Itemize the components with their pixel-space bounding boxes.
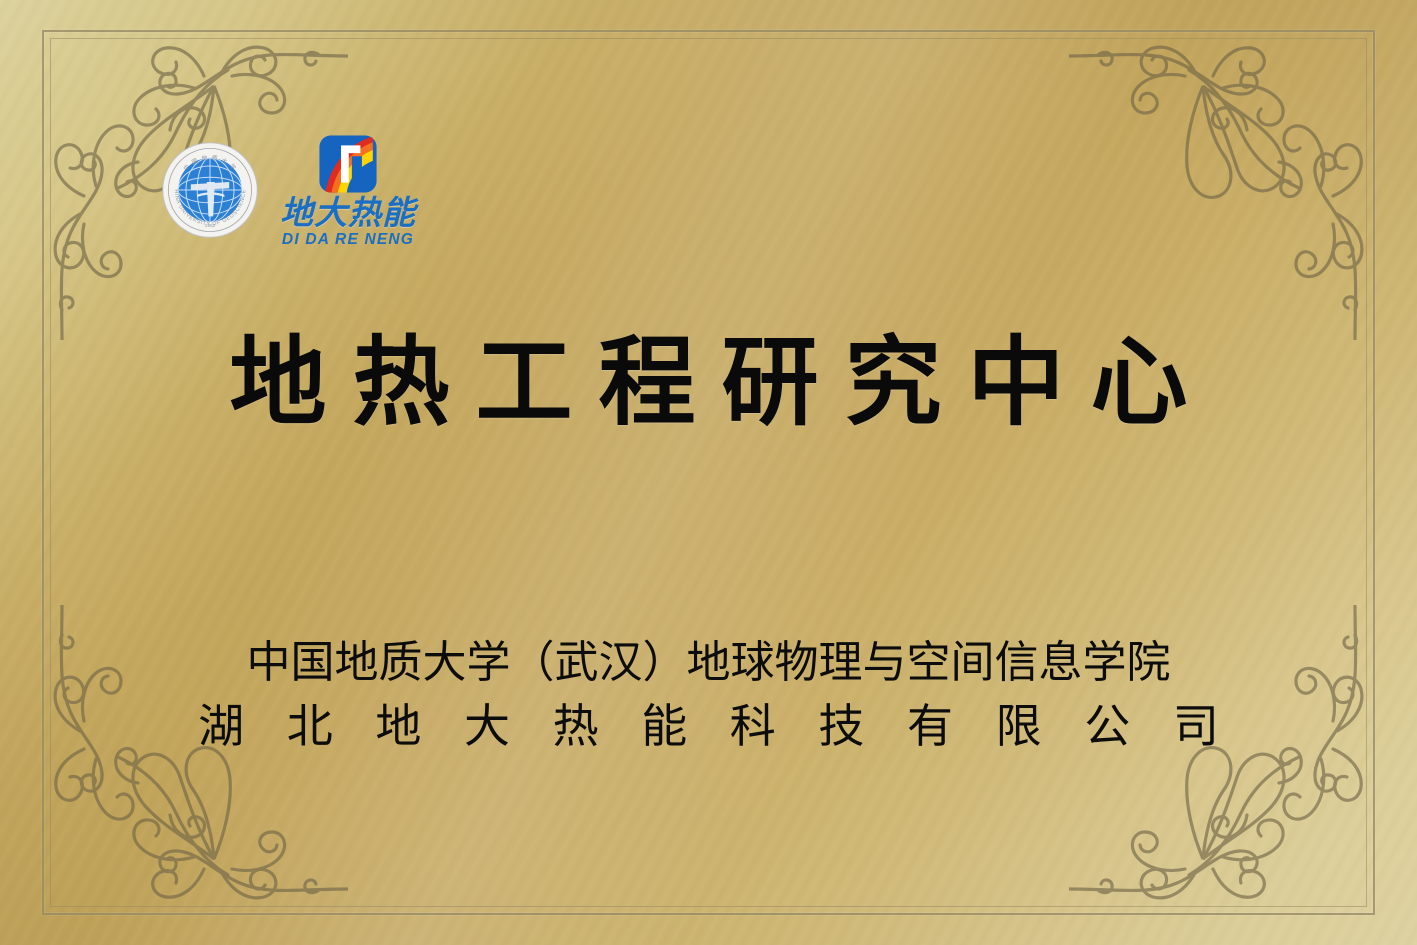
company-logo: 地大热能 DI DA RE NENG [280,133,416,248]
plaque-subtitle-block: 中国地质大学（武汉）地球物理与空间信息学院 湖 北 地 大 热 能 科 技 有 … [0,638,1417,754]
plaque-title: 地热工程研究中心 [0,330,1417,435]
logo-group: 中 国 地 质 大 学 CHINA UNIVERSITY OF GEOSCIEN… [162,133,416,248]
award-plaque: 中 国 地 质 大 学 CHINA UNIVERSITY OF GEOSCIEN… [0,0,1417,945]
subtitle-line-1: 中国地质大学（武汉）地球物理与空间信息学院 [0,638,1417,687]
seal-year: 1952 [205,223,216,229]
company-name-pinyin: DI DA RE NENG [282,232,414,248]
university-seal-logo: 中 国 地 质 大 学 CHINA UNIVERSITY OF GEOSCIEN… [162,142,258,238]
company-name-cn: 地大热能 [280,196,416,229]
didareneng-rainbow-mark-icon [317,133,379,195]
subtitle-line-2: 湖 北 地 大 热 能 科 技 有 限 公 司 [0,699,1417,753]
